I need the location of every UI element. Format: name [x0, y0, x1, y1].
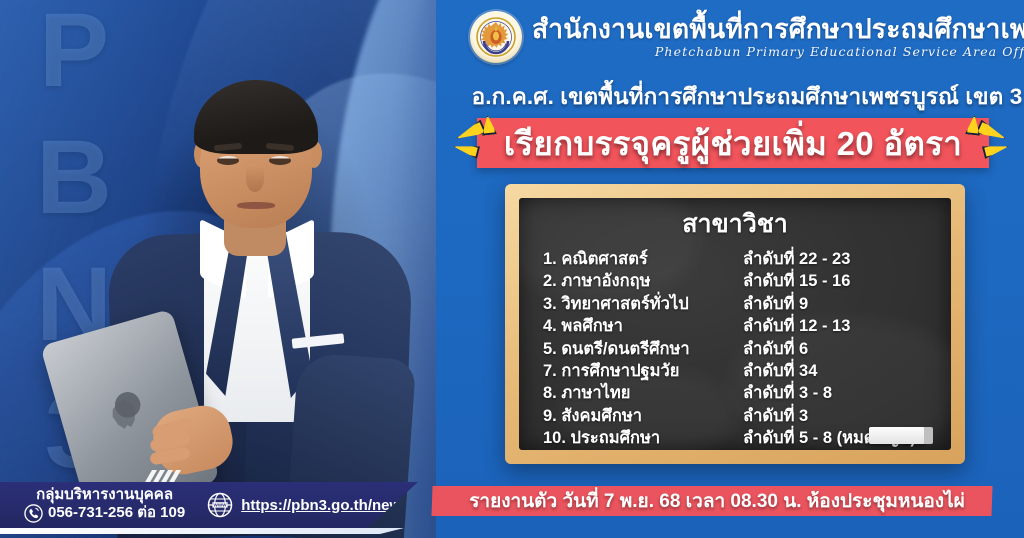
- chalkboard-eraser: [869, 427, 925, 444]
- list-item: 8. ภาษาไทย ลำดับที่ 3 - 8: [543, 382, 941, 404]
- portrait-eye-left: [217, 156, 239, 165]
- list-item: 7. การศึกษาปฐมวัย ลำดับที่ 34: [543, 360, 941, 382]
- subject-list: 1. คณิตศาสตร์ ลำดับที่ 22 - 23 2. ภาษาอั…: [519, 248, 951, 450]
- subtitle-text: อ.ก.ค.ศ. เขตพื้นที่การศึกษาประถมศึกษาเพช…: [470, 78, 1024, 114]
- list-item: 3. วิทยาศาสตร์ทั่วไป ลำดับที่ 9: [543, 293, 941, 315]
- headline-text: เรียกบรรจุครูผู้ช่วยเพิ่ม 20 อัตรา: [477, 116, 989, 170]
- subject-name: 4. พลศึกษา: [543, 315, 743, 337]
- website-link-row[interactable]: WWW https://pbn3.go.th/news/: [207, 492, 414, 518]
- contact-footer-bar: กลุ่มบริหารงานบุคคล 056-731-256 ต่อ 109: [0, 482, 418, 528]
- subject-name: 9. สังคมศึกษา: [543, 405, 743, 427]
- subject-name: 5. ดนตรี/ดนตรีศึกษา: [543, 338, 743, 360]
- contact-phone-row: 056-731-256 ต่อ 109: [24, 504, 185, 523]
- subject-name: 2. ภาษาอังกฤษ: [543, 270, 743, 292]
- thai-ministry-of-education-emblem-icon: [470, 11, 522, 63]
- executive-portrait-photo: [96, 36, 416, 538]
- subject-rank: ลำดับที่ 34: [743, 360, 817, 382]
- subject-name: 7. การศึกษาปฐมวัย: [543, 360, 743, 382]
- subject-name: 10. ประถมศึกษา: [543, 427, 743, 449]
- header-text-block: สำนักงานเขตพื้นที่การศึกษาประถมศึกษาเพชร…: [532, 16, 1024, 59]
- decorative-stripes: [144, 470, 210, 484]
- subject-rank: ลำดับที่ 15 - 16: [743, 270, 850, 292]
- organization-name-english: Phetchabun Primary Educational Service A…: [532, 46, 1024, 59]
- blackboard-frame: สาขาวิชา 1. คณิตศาสตร์ ลำดับที่ 22 - 23 …: [505, 184, 965, 464]
- portrait-eye-right: [269, 156, 291, 165]
- subject-name: 1. คณิตศาสตร์: [543, 248, 743, 270]
- subject-rank: ลำดับที่ 12 - 13: [743, 315, 850, 337]
- organization-name-thai: สำนักงานเขตพื้นที่การศึกษาประถมศึกษาเพชร…: [532, 16, 1024, 43]
- subject-rank: ลำดับที่ 9: [743, 293, 808, 315]
- contact-phone-number: 056-731-256 ต่อ 109: [48, 505, 185, 522]
- phone-icon: [24, 504, 43, 523]
- poster-header: สำนักงานเขตพื้นที่การศึกษาประถมศึกษาเพชร…: [470, 6, 1024, 68]
- contact-block: กลุ่มบริหารงานบุคคล 056-731-256 ต่อ 109: [24, 487, 185, 523]
- blackboard-surface: สาขาวิชา 1. คณิตศาสตร์ ลำดับที่ 22 - 23 …: [519, 198, 951, 450]
- list-item: 4. พลศึกษา ลำดับที่ 12 - 13: [543, 315, 941, 337]
- subject-rank: ลำดับที่ 3 - 8: [743, 382, 832, 404]
- headline-banner: เรียกบรรจุครูผู้ช่วยเพิ่ม 20 อัตรา: [455, 113, 1015, 173]
- portrait-mouth: [237, 202, 275, 209]
- subject-rank: ลำดับที่ 3: [743, 405, 808, 427]
- list-item: 2. ภาษาอังกฤษ ลำดับที่ 15 - 16: [543, 270, 941, 292]
- list-item: 1. คณิตศาสตร์ ลำดับที่ 22 - 23: [543, 248, 941, 270]
- notice-text: รายงานตัว วันที่ 7 พ.ย. 68 เวลา 08.30 น.…: [432, 484, 1002, 518]
- subject-rank: ลำดับที่ 6: [743, 338, 808, 360]
- board-title: สาขาวิชา: [519, 204, 951, 244]
- apple-logo-icon: [107, 396, 142, 433]
- subject-name: 3. วิทยาศาสตร์ทั่วไป: [543, 293, 743, 315]
- list-item: 5. ดนตรี/ดนตรีศึกษา ลำดับที่ 6: [543, 338, 941, 360]
- subject-name: 8. ภาษาไทย: [543, 382, 743, 404]
- subject-rank: ลำดับที่ 22 - 23: [743, 248, 850, 270]
- list-item: 9. สังคมศึกษา ลำดับที่ 3: [543, 405, 941, 427]
- footer-accent-underline: [0, 528, 404, 534]
- svg-text:WWW: WWW: [214, 503, 228, 508]
- globe-www-icon: WWW: [207, 492, 233, 518]
- portrait-nose: [246, 166, 264, 192]
- contact-org-unit: กลุ่มบริหารงานบุคคล: [36, 487, 173, 504]
- poster-canvas: P B N 3: [0, 0, 1024, 538]
